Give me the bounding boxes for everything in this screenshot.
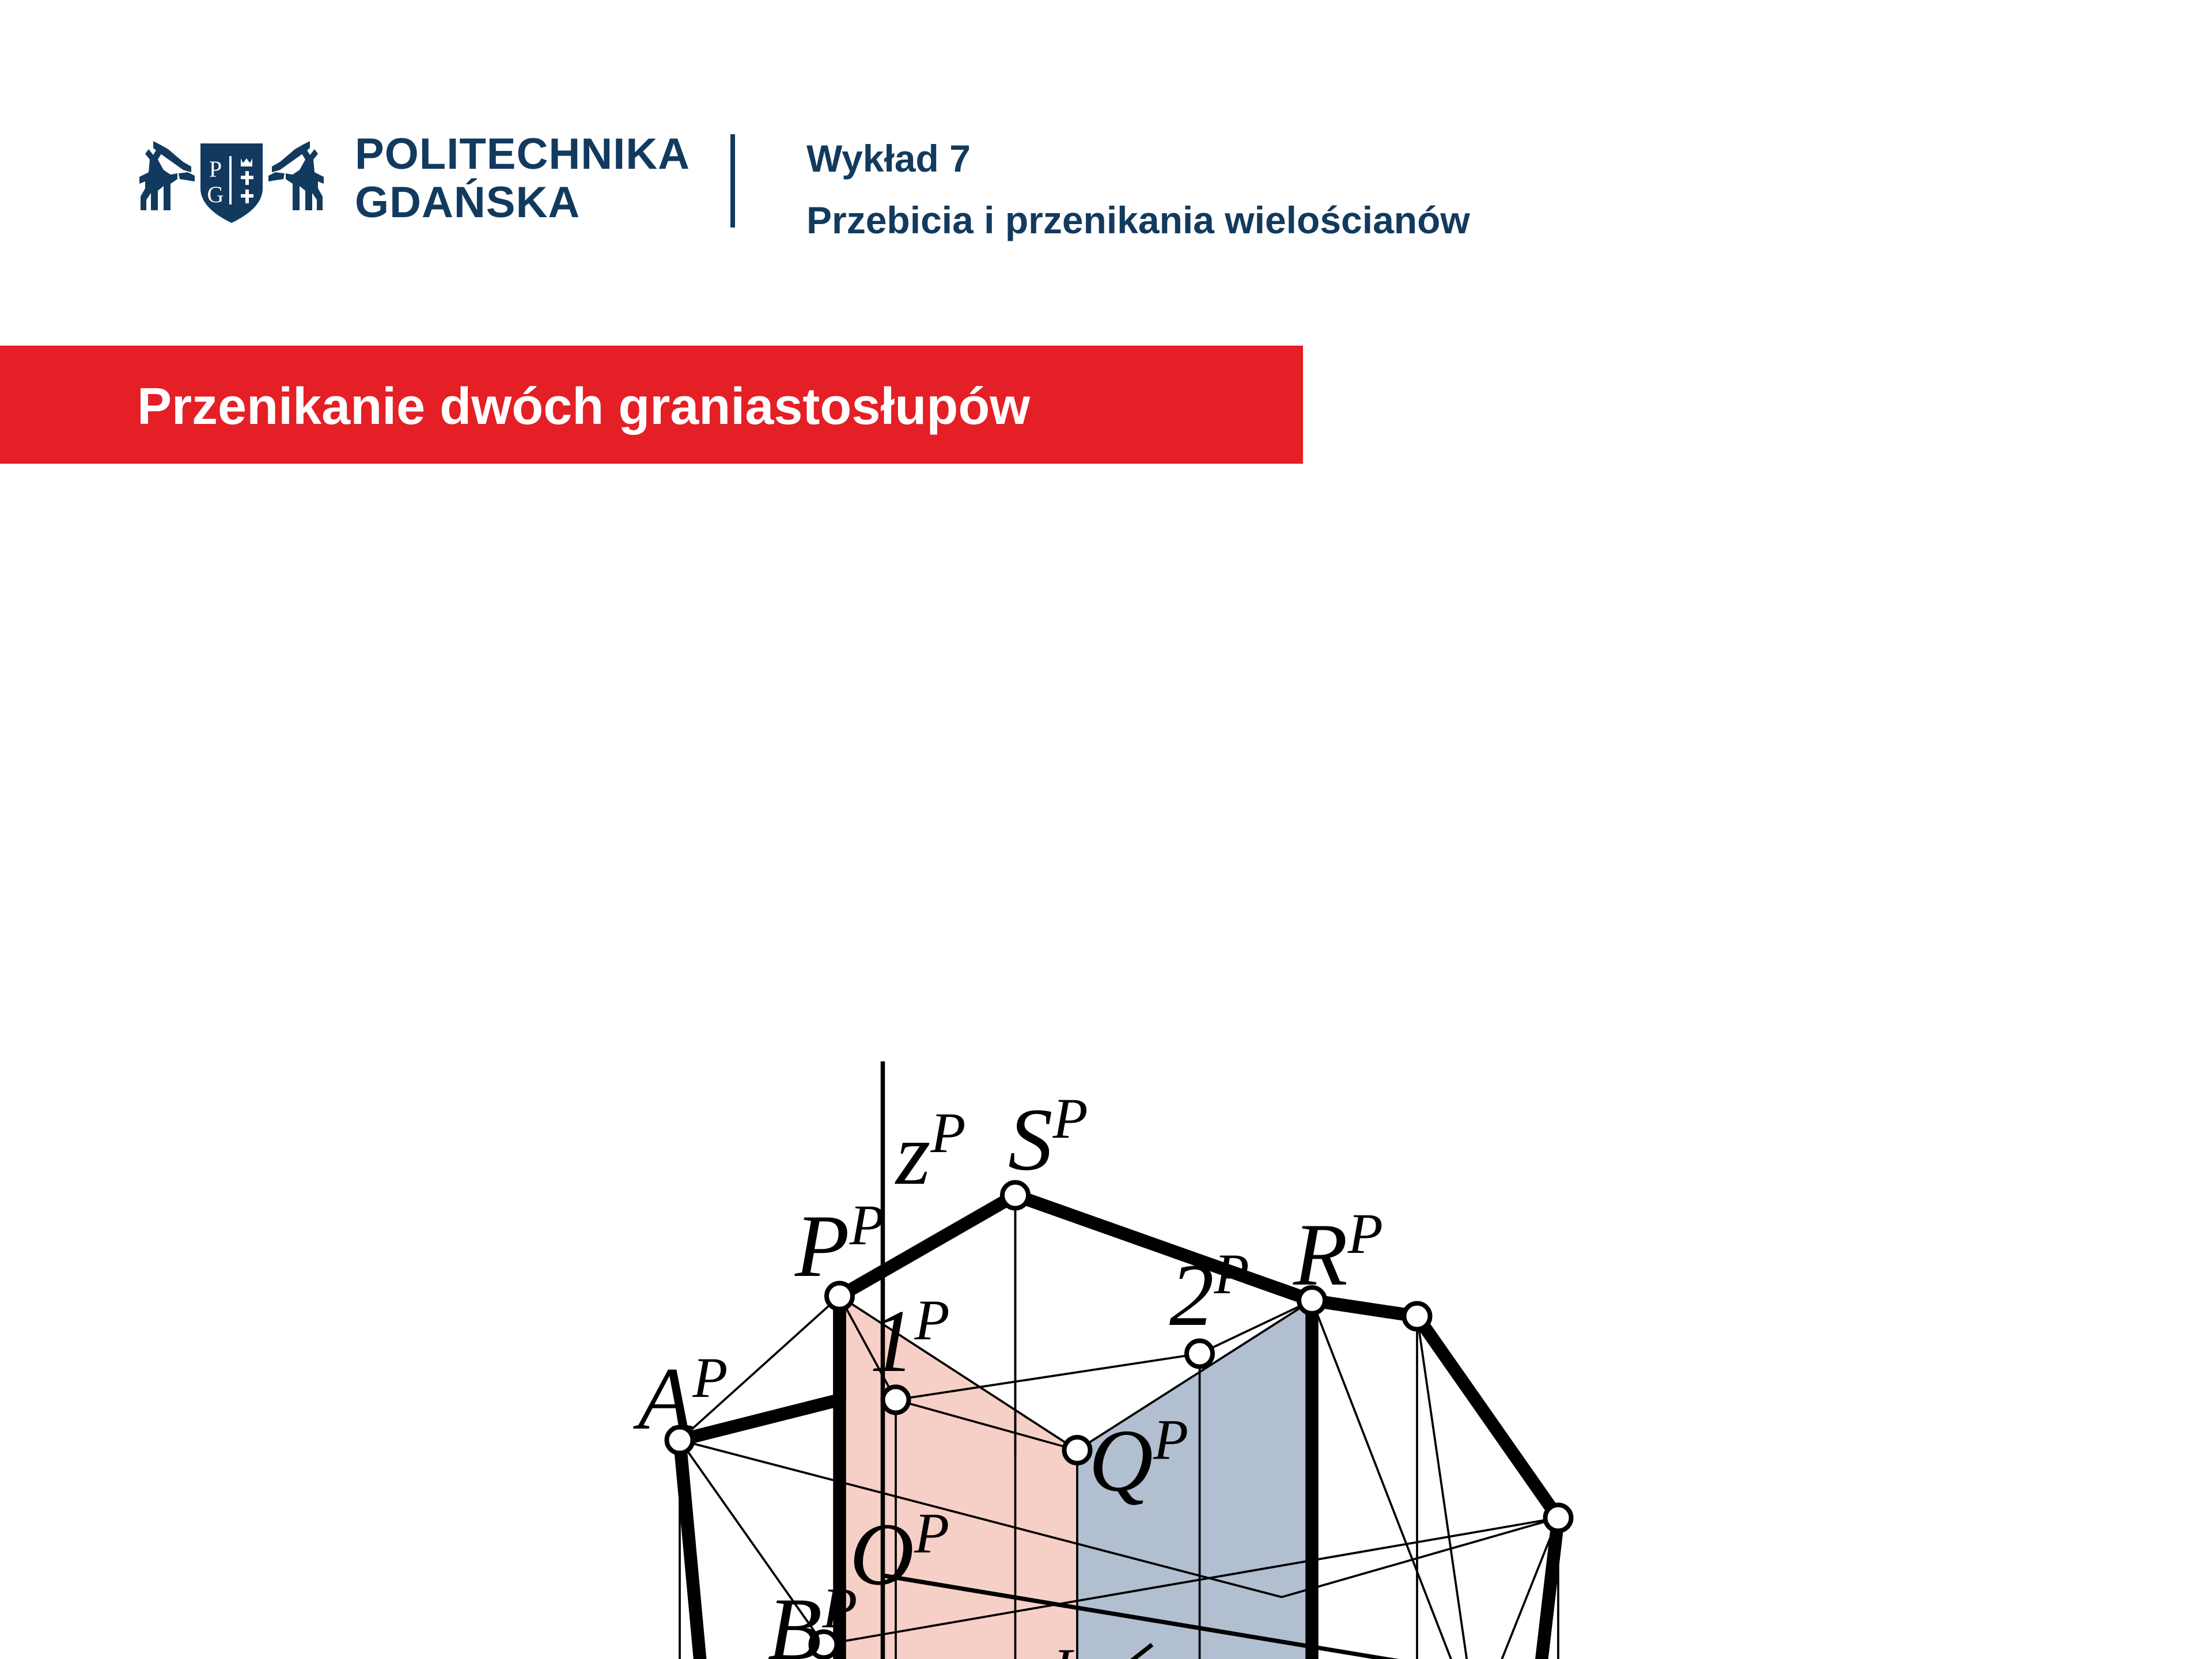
university-name-line1: POLITECHNIKA [355,130,690,179]
lecture-topic: Przebicia i przenikania wielościanów [806,190,1470,251]
projection-diagram: xP yP zP AP BP CP OP PP QP RP SP 1P 2P 3… [0,507,2212,1659]
header-divider [730,134,735,228]
svg-text:G: G [207,181,224,207]
z-axis-label: zP [895,1101,965,1203]
pg-crest-icon: P G [128,124,335,233]
university-logo-block: P G POLITECHNIKA GDAŃSKA [128,124,690,233]
svg-text:P: P [209,156,222,182]
label-S-plan: SI [1008,1637,1075,1659]
university-name-line2: GDAŃSKA [355,179,690,227]
slide-title: Przenikanie dwóch graniastosłupów [137,377,1030,437]
slide-header: P G POLITECHNIKA GDAŃSKA Wykład 7 Przebi… [0,0,2212,323]
label-2-elevation: 2P [1169,1242,1249,1344]
label-R-elevation: RP [1293,1202,1383,1304]
university-wordmark: POLITECHNIKA GDAŃSKA [355,130,690,226]
lecture-info-block: Wykład 7 Przebicia i przenikania wielośc… [806,128,1470,251]
technical-drawing: xP yP zP AP BP CP OP PP QP RP SP 1P 2P 3… [0,507,2212,1659]
lecture-number: Wykład 7 [806,128,1470,190]
label-S-elevation: SP [1008,1086,1088,1189]
